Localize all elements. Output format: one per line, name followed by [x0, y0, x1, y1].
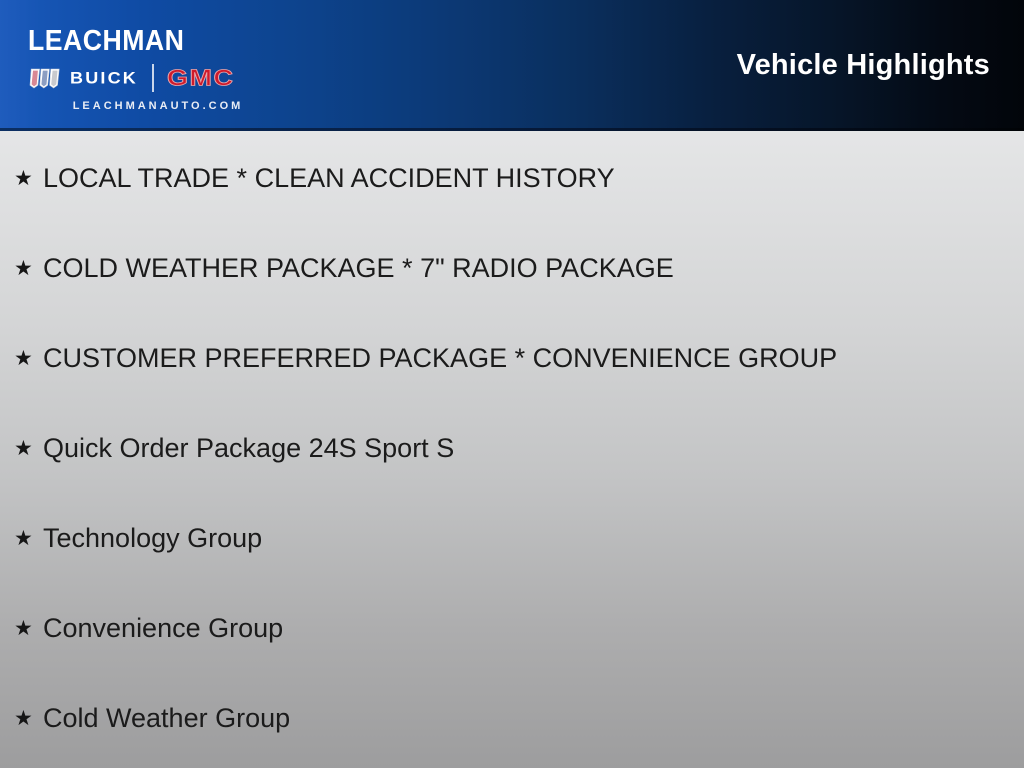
highlight-item-label: CUSTOMER PREFERRED PACKAGE * CONVENIENCE… [43, 343, 837, 373]
highlight-item-label: Cold Weather Group [43, 703, 290, 733]
highlight-item: ★Technology Group [14, 518, 262, 558]
vehicle-highlights-page: LEACHMAN BUICK GMC LEACHMANAUTO [0, 0, 1024, 768]
highlight-item-label: LOCAL TRADE * CLEAN ACCIDENT HISTORY [43, 163, 615, 193]
highlight-item-label: Technology Group [43, 523, 262, 553]
brand-row: BUICK GMC [28, 63, 286, 93]
star-bullet-icon: ★ [14, 258, 34, 279]
highlight-item: ★Quick Order Package 24S Sport S [14, 428, 454, 468]
highlight-item: ★Convenience Group [14, 608, 283, 648]
dealer-wordmark: LEACHMAN [28, 14, 265, 58]
highlight-item-label: Convenience Group [43, 613, 283, 643]
star-bullet-icon: ★ [14, 528, 34, 549]
star-bullet-icon: ★ [14, 708, 34, 729]
gmc-wordmark: GMC [167, 67, 235, 90]
highlight-item-label: COLD WEATHER PACKAGE * 7" RADIO PACKAGE [43, 253, 674, 283]
star-bullet-icon: ★ [14, 348, 34, 369]
dealer-website-url[interactable]: LEACHMANAUTO.COM [29, 100, 287, 112]
buick-tri-shield-icon [28, 68, 62, 89]
dealer-logo[interactable]: LEACHMAN BUICK GMC LEACHMANAUTO [0, 0, 300, 131]
star-bullet-icon: ★ [14, 618, 34, 639]
page-title: Vehicle Highlights [737, 49, 990, 82]
star-bullet-icon: ★ [14, 168, 34, 189]
highlight-item: ★LOCAL TRADE * CLEAN ACCIDENT HISTORY [14, 158, 615, 198]
vehicle-highlights-list: ★LOCAL TRADE * CLEAN ACCIDENT HISTORY★CO… [0, 131, 1024, 768]
highlight-item: ★COLD WEATHER PACKAGE * 7" RADIO PACKAGE [14, 248, 674, 288]
highlight-item: ★CUSTOMER PREFERRED PACKAGE * CONVENIENC… [14, 338, 837, 378]
buick-wordmark: BUICK [70, 68, 138, 87]
highlight-item: ★Cold Weather Group [14, 698, 290, 738]
star-bullet-icon: ★ [14, 438, 34, 459]
brand-divider [152, 64, 154, 92]
highlight-item-label: Quick Order Package 24S Sport S [43, 433, 454, 463]
page-header: LEACHMAN BUICK GMC LEACHMANAUTO [0, 0, 1024, 131]
